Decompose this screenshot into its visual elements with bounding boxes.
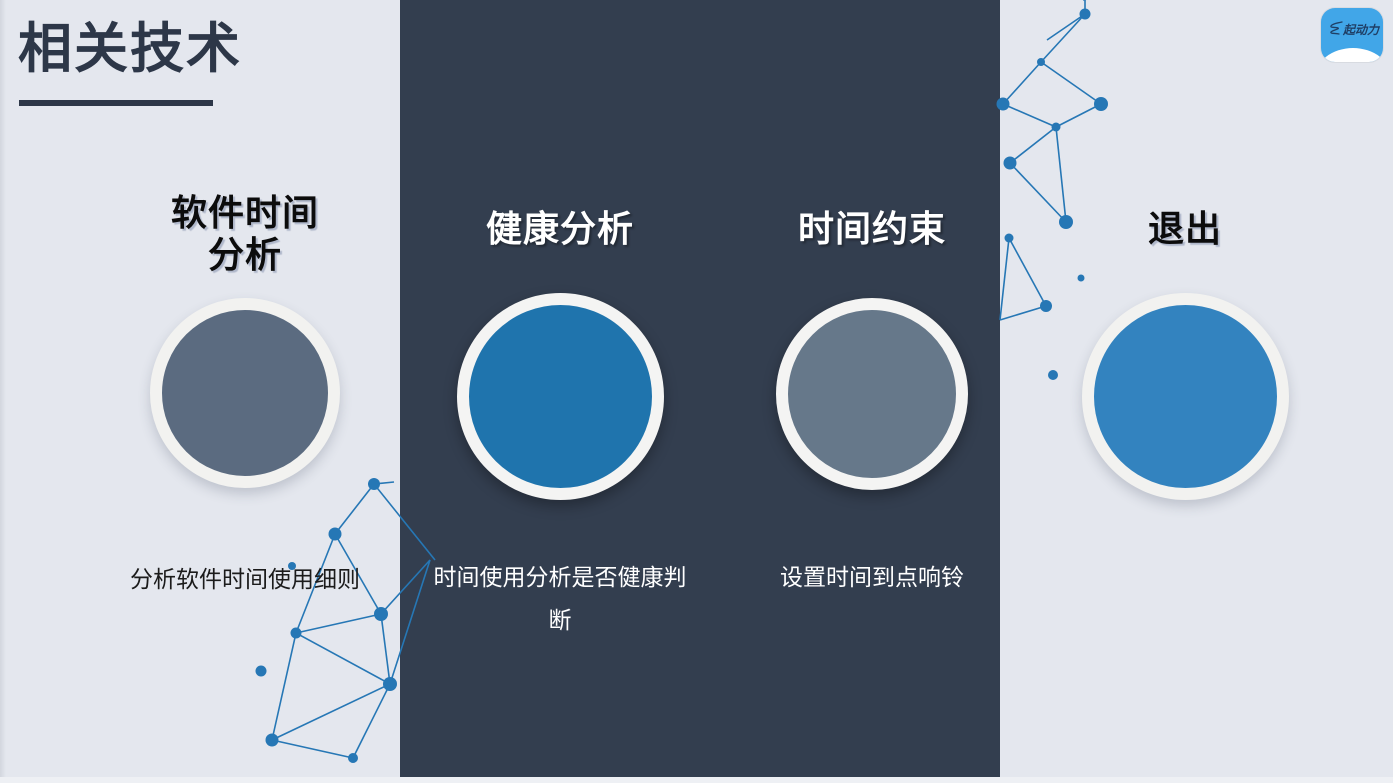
slide-canvas: 相关技术 起动力 软件时间分析 分析软件时间使用细则 健康分析 时间使用分析是否… [0,0,1393,783]
left-edge-shade [0,0,6,783]
column-3-bubble-wrap [717,298,1027,490]
column-4-title: 退出 [1030,208,1340,250]
column-1-title: 软件时间分析 [90,192,400,277]
column-1-bubble[interactable] [150,298,340,488]
column-2-caption: 时间使用分析是否健康判断 [425,556,695,641]
column-2-title: 健康分析 [405,208,715,250]
logo-text: 起动力 [1343,21,1379,38]
column-health-analysis: 健康分析 时间使用分析是否健康判断 [405,0,715,783]
column-4-bubble-wrap [1030,293,1340,500]
column-2-bubble-wrap [405,293,715,500]
column-3-bubble[interactable] [776,298,968,490]
column-3-title: 时间约束 [717,208,1027,250]
column-2-bubble[interactable] [457,293,664,500]
column-4-bubble[interactable] [1082,293,1289,500]
column-3-caption: 设置时间到点响铃 [737,556,1007,599]
column-1-caption: 分析软件时间使用细则 [110,558,380,601]
column-exit: 退出 [1030,0,1340,783]
column-time-constraint: 时间约束 设置时间到点响铃 [717,0,1027,783]
column-1-bubble-wrap [90,298,400,488]
column-software-time-analysis: 软件时间分析 分析软件时间使用细则 [90,0,400,783]
